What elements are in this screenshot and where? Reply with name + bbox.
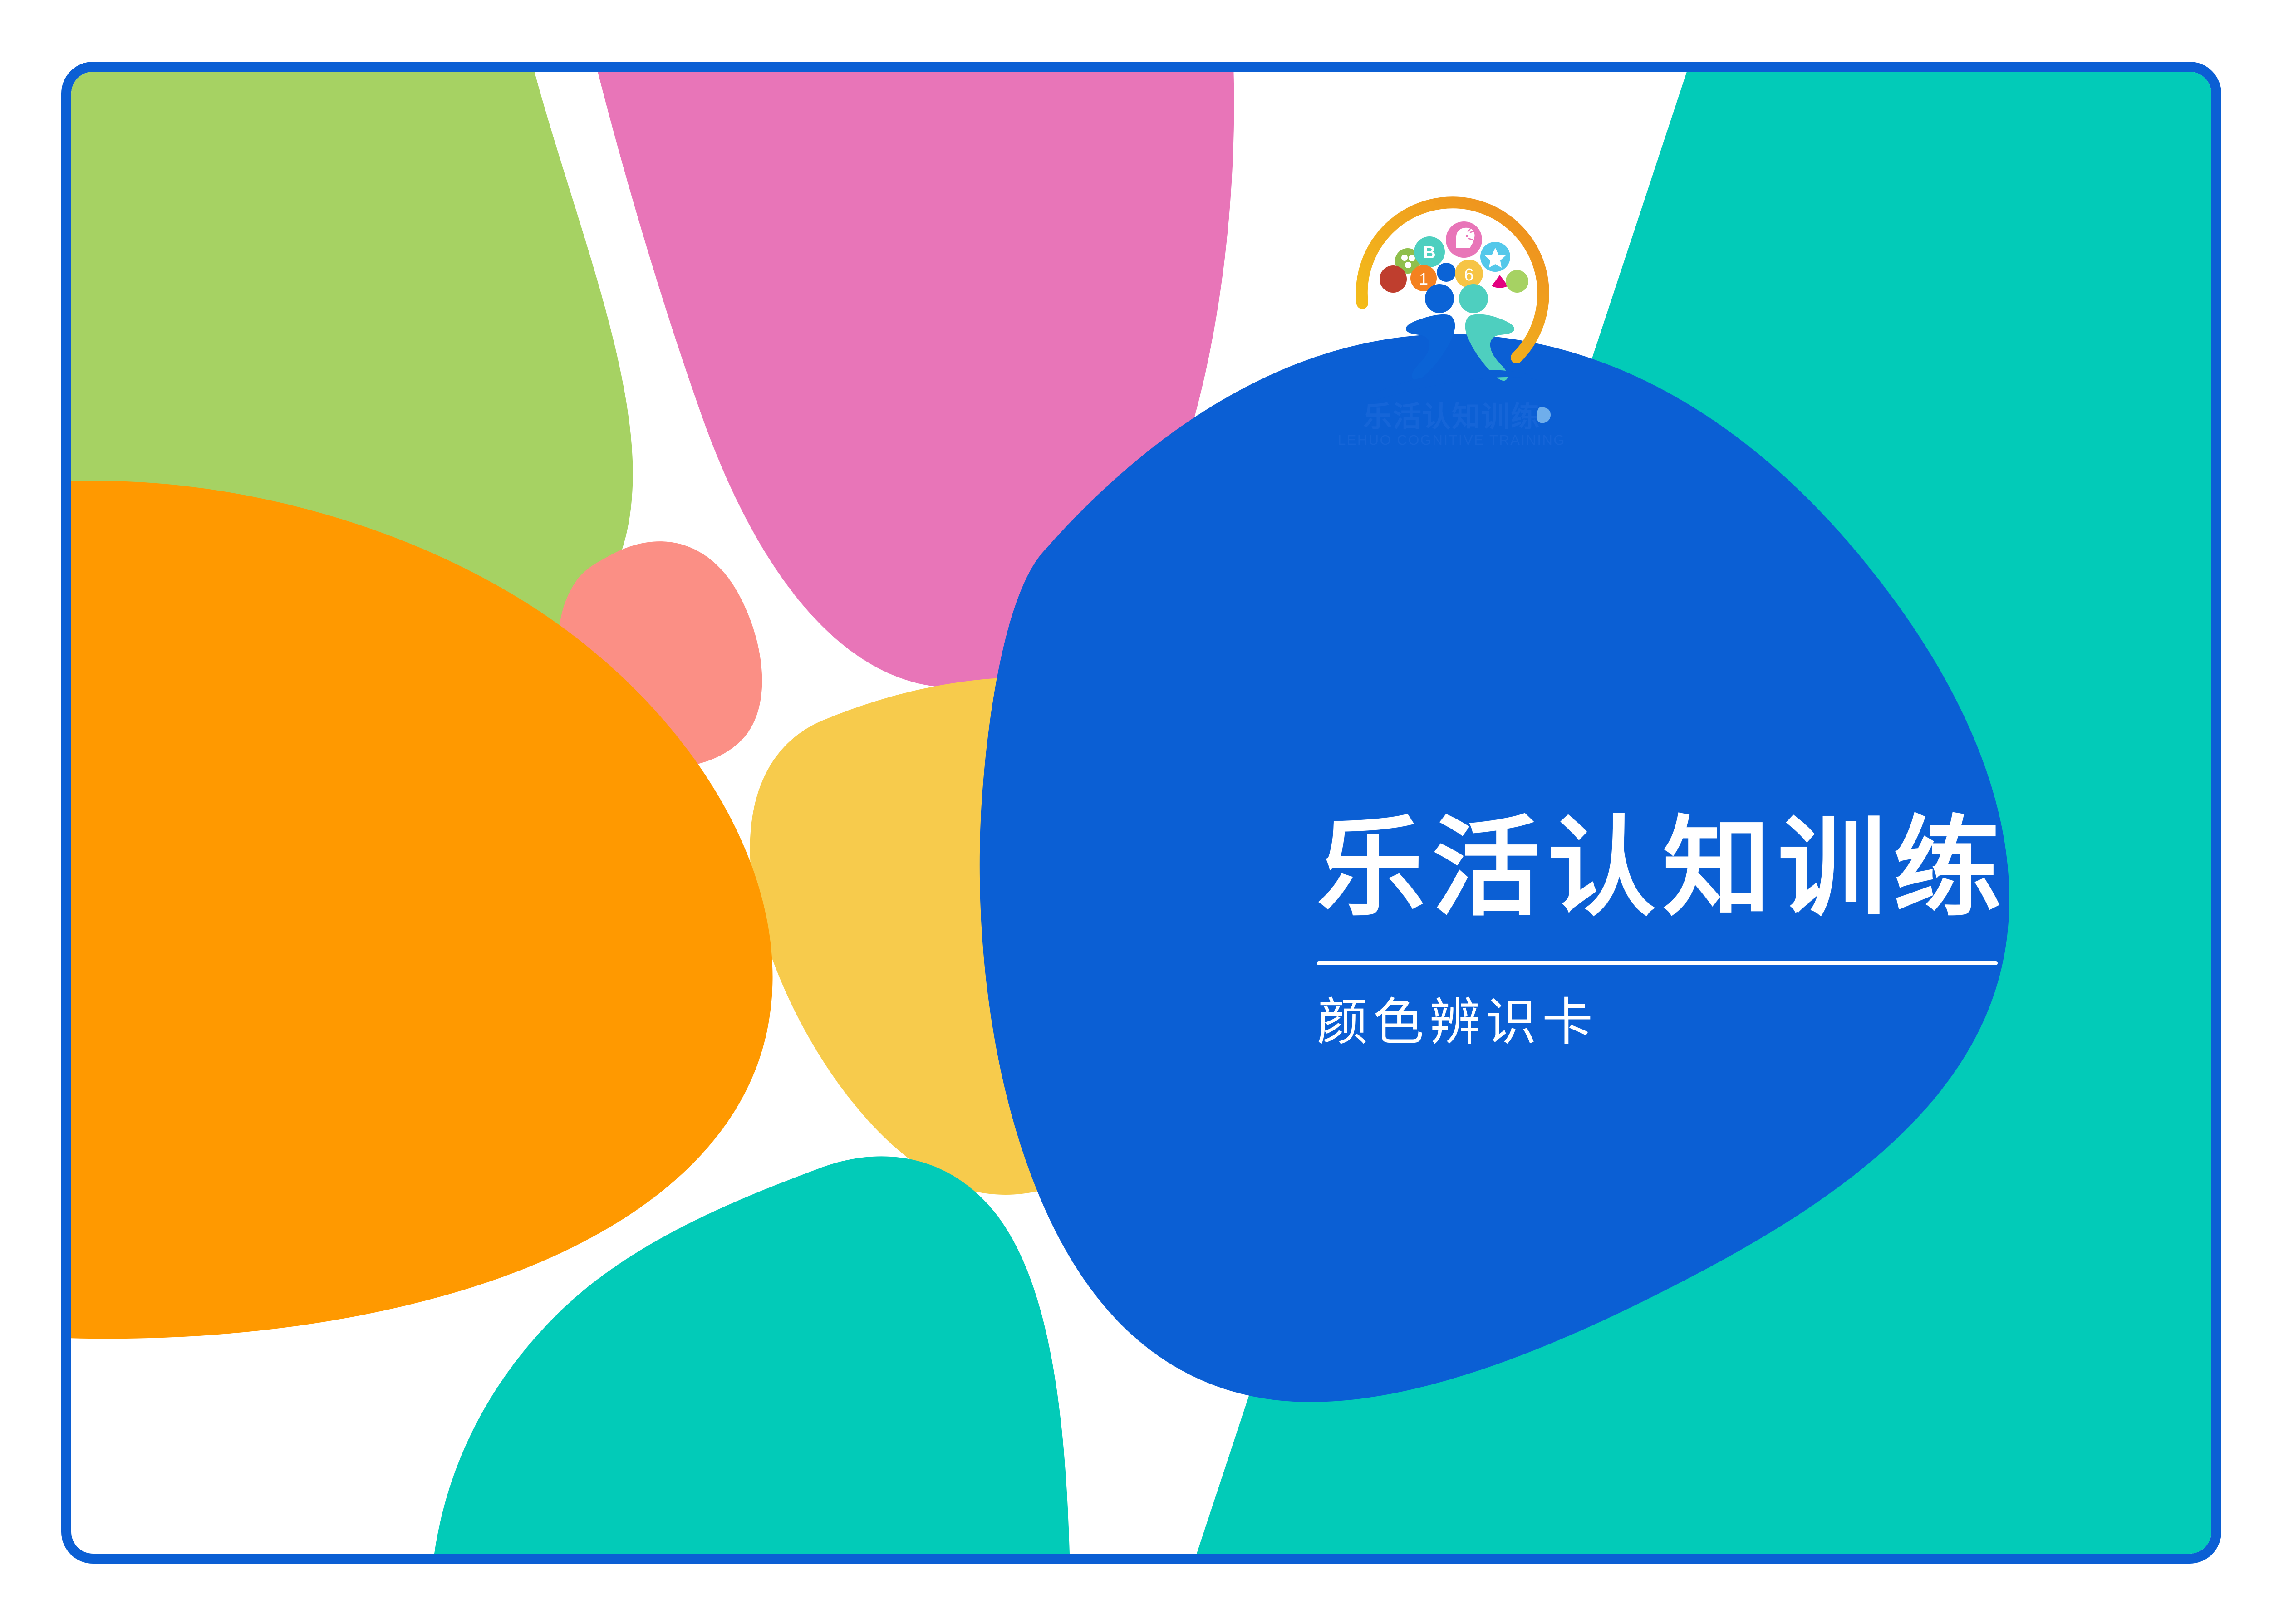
blue-dot-icon	[1437, 263, 1456, 282]
logo-brand-cn: 乐活认知训练	[1363, 401, 1540, 433]
figure-left-icon	[1406, 284, 1455, 380]
dark-red-dot-icon	[1380, 265, 1407, 293]
logo-leaf-icon	[1537, 407, 1551, 423]
svg-text:1: 1	[1419, 270, 1428, 288]
logo-brand-en: LEHUO COGNITIVE TRAINING	[1338, 432, 1566, 448]
card-frame: B 1 6	[61, 62, 2221, 1564]
svg-text:B: B	[1423, 243, 1435, 262]
color-recognition-card: B 1 6	[0, 0, 2269, 1624]
magenta-triangle-icon	[1492, 275, 1508, 288]
card-title: 乐活认知训练	[1317, 811, 2097, 926]
title-divider	[1317, 961, 1998, 965]
light-green-dot-icon	[1506, 270, 1528, 293]
title-block: 乐活认知训练 颜色辨识卡	[1317, 811, 2097, 1050]
figure-right-icon	[1459, 284, 1514, 381]
logo-swoosh-icon	[1373, 370, 1538, 401]
svg-text:6: 6	[1464, 265, 1473, 285]
lehuo-logo: B 1 6	[1337, 194, 1573, 453]
card-subtitle: 颜色辨识卡	[1317, 994, 2097, 1050]
